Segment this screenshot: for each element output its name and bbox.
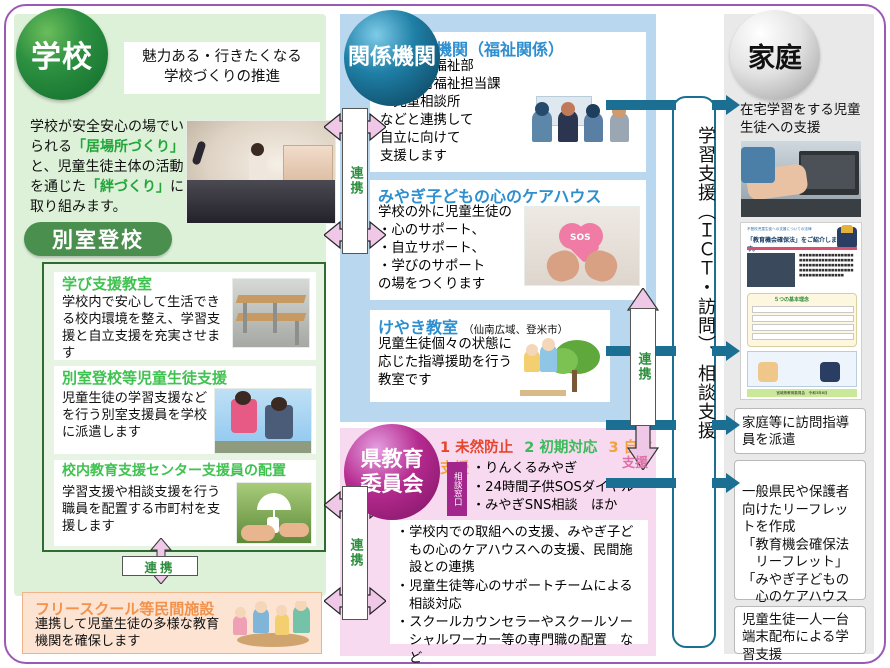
katei-box-leaflet: 一般県民や保護者向けたリーフレットを作成 「教育機会確保法 リーフレット」 「み… [734,460,866,600]
classroom-photo [186,120,336,224]
katei-box-text: 一般県民や保護者向けたリーフレットを作成 「教育機会確保法 リーフレット」 「み… [742,485,849,622]
kikan-bubble: 関係機関 [344,10,440,106]
label: 初期対応 [539,440,597,456]
card-title: けやき教室 [378,318,458,337]
desks-photo [232,278,310,348]
card-lines: 児童生徒個々の状態に 応じた指導援助を行う 教室です [378,336,512,390]
bullet: ・スクールカウンセラーやスクールソーシャルワーカー等の専門職の配置 など [396,614,644,667]
card-center-haichi: 校内教育支援センター支援員の配置 学習支援や相談支援を行う職員を配置する市町村を… [54,460,316,546]
card-title-note: （仙南広域、登米市） [463,324,568,336]
kyoiku-bubble-label: 県教育 委員会 [361,447,424,497]
hotline-item: ・みやぎSNS相談 ほか [472,497,634,516]
soudan-madoguchi-label: 相談窓口 [453,472,462,506]
bessitsu-pill: 別室登校 [24,222,172,256]
line: 自立に向けて [380,130,501,148]
renkei-label-text: 連携 [634,352,653,382]
line: ・心のサポート、 [378,222,512,240]
school-intro: 学校が安全安心の場でいられる「居場所づくり」と、児童生徒主体の活動を通じた「絆づ… [30,118,186,217]
leaflet-image: 不登校児童生徒への支援についての法律 「教育機会確保法」をご紹介します。 ■■■… [740,222,862,400]
freeschool-title: フリースクール等民間施設 [35,598,214,619]
num: 3 [609,440,619,456]
diagram-root: 魅力ある・行きたくなる 学校づくりの推進 学校が安全安心の場でいられる「居場所づ… [0,0,890,668]
card-keyaki-kyoushitsu: けやき教室 （仙南広域、登米市） 児童生徒個々の状態に 応じた指導援助を行う 教… [370,310,610,402]
bullet: ・児童生徒等心のサポートチームによる相談対応 [396,578,644,613]
katei-box-text: 家庭等に訪問指導員を派遣 [742,416,849,448]
katei-box-tablet: 児童生徒一人一台端末配布による学習支援 [734,606,866,654]
leaflet-heading: 「教育機会確保法」をご紹介します。 [747,235,847,253]
line: 学校の外に児童生徒の [378,204,512,222]
label: 未然防止 [455,440,513,456]
leaflet-subheading: 不登校児童生徒への支援についての法律 [747,227,843,231]
num-head-1: 1 未然防止 [440,440,513,456]
line: の場をつくります [378,276,512,294]
bessitsu-pill-label: 別室登校 [52,224,144,254]
school-intro-highlight-kizuna: 「絆づくり」 [86,179,170,195]
laptop-study-photo [740,140,862,218]
teal-connector-in-1 [606,100,676,110]
teal-arrowhead-1 [726,95,740,115]
line: 支援します [380,148,501,166]
tree-family-photo [518,338,604,398]
num: 1 [440,440,450,456]
school-headline-text: 魅力ある・行きたくなる 学校づくりの推進 [142,48,302,87]
num: 2 [524,440,534,456]
katei-box-houmon: 家庭等に訪問指導員を派遣 [734,408,866,454]
card-manabi-shien: 学び支援教室 学校内で安心して生活できる校内環境を整え、学習支援と自立支援を充実… [54,272,316,360]
line: などと連携して [380,112,501,130]
card-text: 学校内で安心して生活できる校内環境を整え、学習支援と自立支援を充実させます [62,294,228,363]
katei-bubble: 家庭 [730,10,820,100]
soudan-madoguchi-chip: 相談窓口 [447,462,467,516]
school-headline: 魅力ある・行きたくなる 学校づくりの推進 [124,42,320,94]
card-lines: 学校の外に児童生徒の ・心のサポート、 ・自立サポート、 ・学びのサポート の場… [378,204,512,294]
hotline-item: ・りんくるみやぎ [472,460,634,479]
line: 教室です [378,372,512,390]
school-panel: 魅力ある・行きたくなる 学校づくりの推進 学校が安全安心の場でいられる「居場所づ… [14,14,326,596]
card-title: 校内教育支援センター支援員の配置 [62,464,286,479]
teal-arrowhead-2 [726,341,740,361]
card-title: 学び支援教室 [62,276,152,293]
teal-arrowhead-3 [726,415,740,435]
card-text: 学習支援や相談支援を行う職員を配置する市町村を支援します [62,484,230,535]
line: 児童生徒個々の状態に [378,336,512,354]
school-intro-highlight-ibasho: 「居場所づくり」 [72,139,184,155]
leaflet-footer: 宮城県教育委員会 令和3年8月 [747,389,857,397]
kyoiku-bullet-card: ・学校内での取組への支援、みやぎ子どもの心のケアハウスへの支援、民間施設との連携… [390,520,648,644]
sos-heart-photo: SOS [524,206,640,286]
line: ・自立サポート、 [378,240,512,258]
bullet: ・学校内での取組への支援、みやぎ子どもの心のケアハウスへの支援、民間施設との連携 [396,524,644,577]
renkei-label-text: 連携 [346,166,365,196]
kyoiku-bullets: ・学校内での取組への支援、みやぎ子どもの心のケアハウスへの支援、民間施設との連携… [396,524,644,668]
card-bessitsu-shien: 別室登校等児童生徒支援 児童生徒の学習支援などを行う別室支援員を学校に派遣します [54,366,316,454]
school-bubble-label: 学校 [31,32,93,76]
teal-arrowhead-4 [726,473,740,493]
gakushu-shien-bar-label: 学習支援（ＩＣＴ・訪問）、相談支援 [674,126,714,440]
katei-lead-text: 在宅学習をする児童生徒への支援 [740,102,862,137]
renkei-label-text: 連携 [144,557,175,576]
renkei-label-school-freeschool: 連携 [122,556,198,576]
line: ・学びのサポート [378,258,512,276]
hotline-list: ・りんくるみやぎ ・24時間子供SOSダイヤル ・みやぎSNS相談 ほか [472,460,634,516]
children-table-photo [227,601,317,649]
leaflet-section: ５つの基本理念 [774,296,809,303]
freeschool-panel: フリースクール等民間施設 連携して児童生徒の多様な教育機関を確保します [22,592,322,654]
card-kokoro-carehouse: みやぎ子どもの心のケアハウス 学校の外に児童生徒の ・心のサポート、 ・自立サポ… [370,180,646,300]
umbrella-hands-photo [236,482,312,544]
renkei-label-text: 連携 [346,538,365,568]
freeschool-text: 連携して児童生徒の多様な教育機関を確保します [35,617,221,651]
teal-connector-in-4 [606,478,676,488]
renkei-label-school-kyoiku: 連携 [342,486,368,620]
num-head-2: 2 初期対応 [524,440,597,456]
school-bubble: 学校 [16,8,108,100]
card-text: 児童生徒の学習支援などを行う別室支援員を学校に派遣します [62,390,212,441]
renkei-label-kikan-kyoiku: 連携 [630,308,656,426]
shien-label: 支援 [622,452,648,471]
kikan-bubble-label: 関係機関 [348,45,436,70]
card-title: 別室登校等児童生徒支援 [62,370,227,387]
line: 応じた指導援助を行う [378,354,512,372]
backpack-children-photo [214,388,312,454]
katei-bubble-label: 家庭 [748,36,802,75]
renkei-label-school-kikan: 連携 [342,108,368,254]
